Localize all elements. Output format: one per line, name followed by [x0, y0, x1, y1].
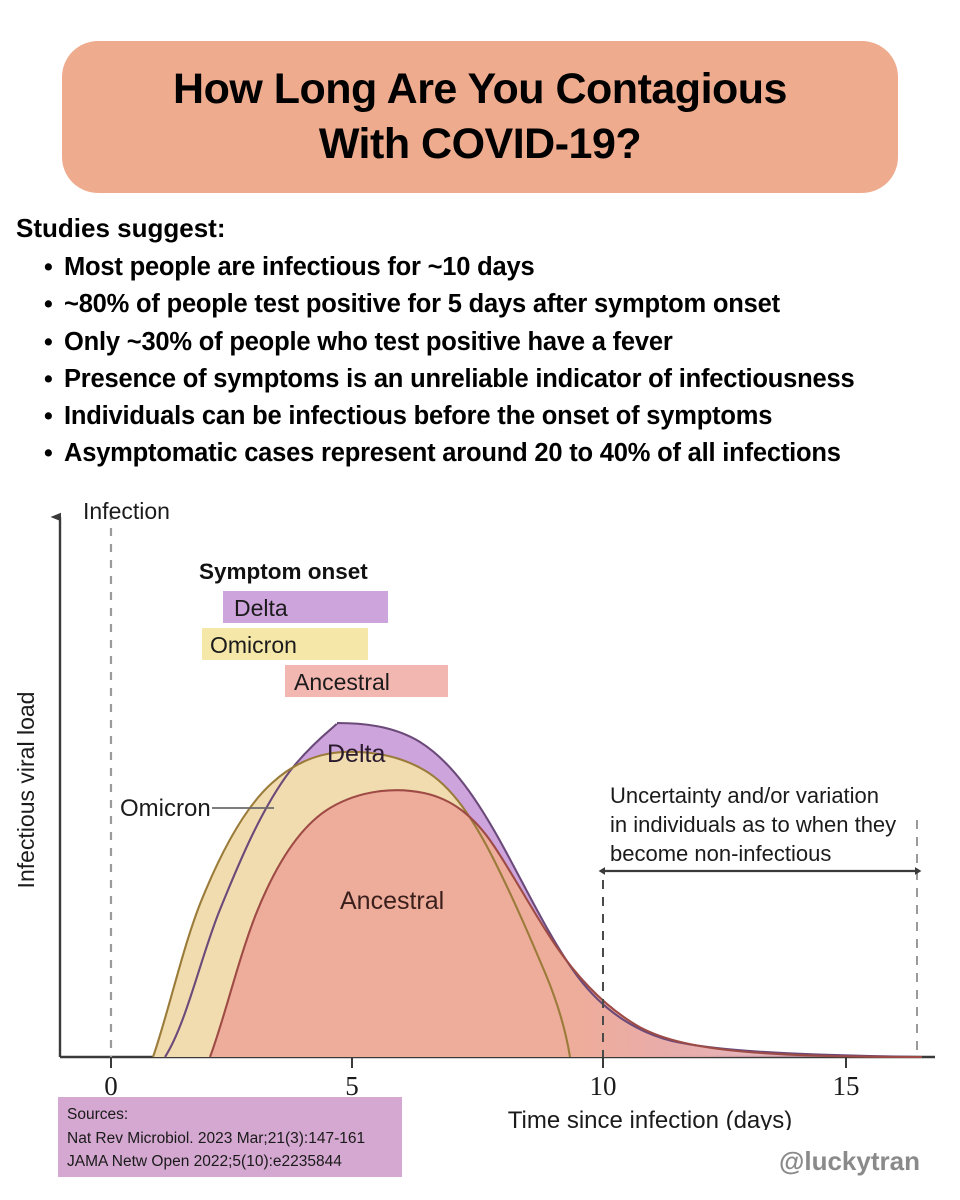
- bullet-icon: •: [44, 249, 53, 286]
- symptom-onset-title: Symptom onset: [199, 559, 368, 584]
- bullet-icon: •: [44, 286, 53, 323]
- sources-box: Sources: Nat Rev Microbiol. 2023 Mar;21(…: [58, 1097, 402, 1177]
- studies-bullet-list: • Most people are infectious for ~10 day…: [16, 249, 956, 472]
- sources-line-2: JAMA Netw Open 2022;5(10):e2235844: [67, 1150, 393, 1174]
- bullet-icon: •: [44, 435, 53, 472]
- list-item-label: Individuals can be infectious before the…: [64, 402, 772, 430]
- studies-block: Studies suggest: • Most people are infec…: [16, 214, 956, 472]
- uncertainty-text-line3: become non-infectious: [610, 841, 831, 866]
- list-item-label: Only ~30% of people who test positive ha…: [64, 328, 673, 356]
- author-handle: @luckytran: [779, 1146, 920, 1177]
- uncertainty-text-line2: in individuals as to when they: [610, 812, 896, 837]
- bullet-icon: •: [44, 361, 53, 398]
- list-item: • Presence of symptoms is an unreliable …: [16, 361, 956, 398]
- infection-label: Infection: [83, 498, 170, 524]
- chart-svg: Symptom onset Delta Omicron Ancestral In…: [0, 490, 960, 1130]
- list-item: • ~80% of people test positive for 5 day…: [16, 286, 956, 323]
- symptom-onset-bar-delta-label: Delta: [234, 595, 288, 621]
- list-item-label: Asymptomatic cases represent around 20 t…: [64, 439, 841, 467]
- sources-line-1: Nat Rev Microbiol. 2023 Mar;21(3):147-16…: [67, 1127, 393, 1151]
- title-line-2: With COVID-19?: [319, 120, 641, 168]
- list-item-label: Presence of symptoms is an unreliable in…: [64, 365, 854, 393]
- bullet-icon: •: [44, 398, 53, 435]
- title-banner: How Long Are You Contagious With COVID-1…: [62, 41, 898, 193]
- list-item: • Individuals can be infectious before t…: [16, 398, 956, 435]
- list-item-label: Most people are infectious for ~10 days: [64, 253, 534, 281]
- studies-heading: Studies suggest:: [16, 214, 956, 243]
- viral-load-chart: Symptom onset Delta Omicron Ancestral In…: [0, 490, 960, 1130]
- y-axis-label: Infectious viral load: [13, 692, 39, 889]
- list-item: • Only ~30% of people who test positive …: [16, 324, 956, 361]
- symptom-onset-bar-omicron-label: Omicron: [210, 632, 297, 658]
- x-tick-label-15: 15: [833, 1071, 860, 1101]
- list-item: • Asymptomatic cases represent around 20…: [16, 435, 956, 472]
- symptom-onset-bar-ancestral-label: Ancestral: [294, 669, 390, 695]
- list-item-label: ~80% of people test positive for 5 days …: [64, 290, 780, 318]
- page-title: How Long Are You Contagious With COVID-1…: [151, 62, 809, 172]
- title-line-1: How Long Are You Contagious: [173, 65, 787, 113]
- curve-label-delta: Delta: [327, 740, 385, 768]
- x-tick-label-10: 10: [590, 1071, 617, 1101]
- bullet-icon: •: [44, 324, 53, 361]
- sources-heading: Sources:: [67, 1103, 393, 1127]
- x-axis-label: Time since infection (days): [508, 1107, 793, 1130]
- uncertainty-text-line1: Uncertainty and/or variation: [610, 783, 879, 808]
- curve-label-ancestral: Ancestral: [340, 887, 444, 915]
- list-item: • Most people are infectious for ~10 day…: [16, 249, 956, 286]
- curve-label-omicron: Omicron: [120, 795, 211, 822]
